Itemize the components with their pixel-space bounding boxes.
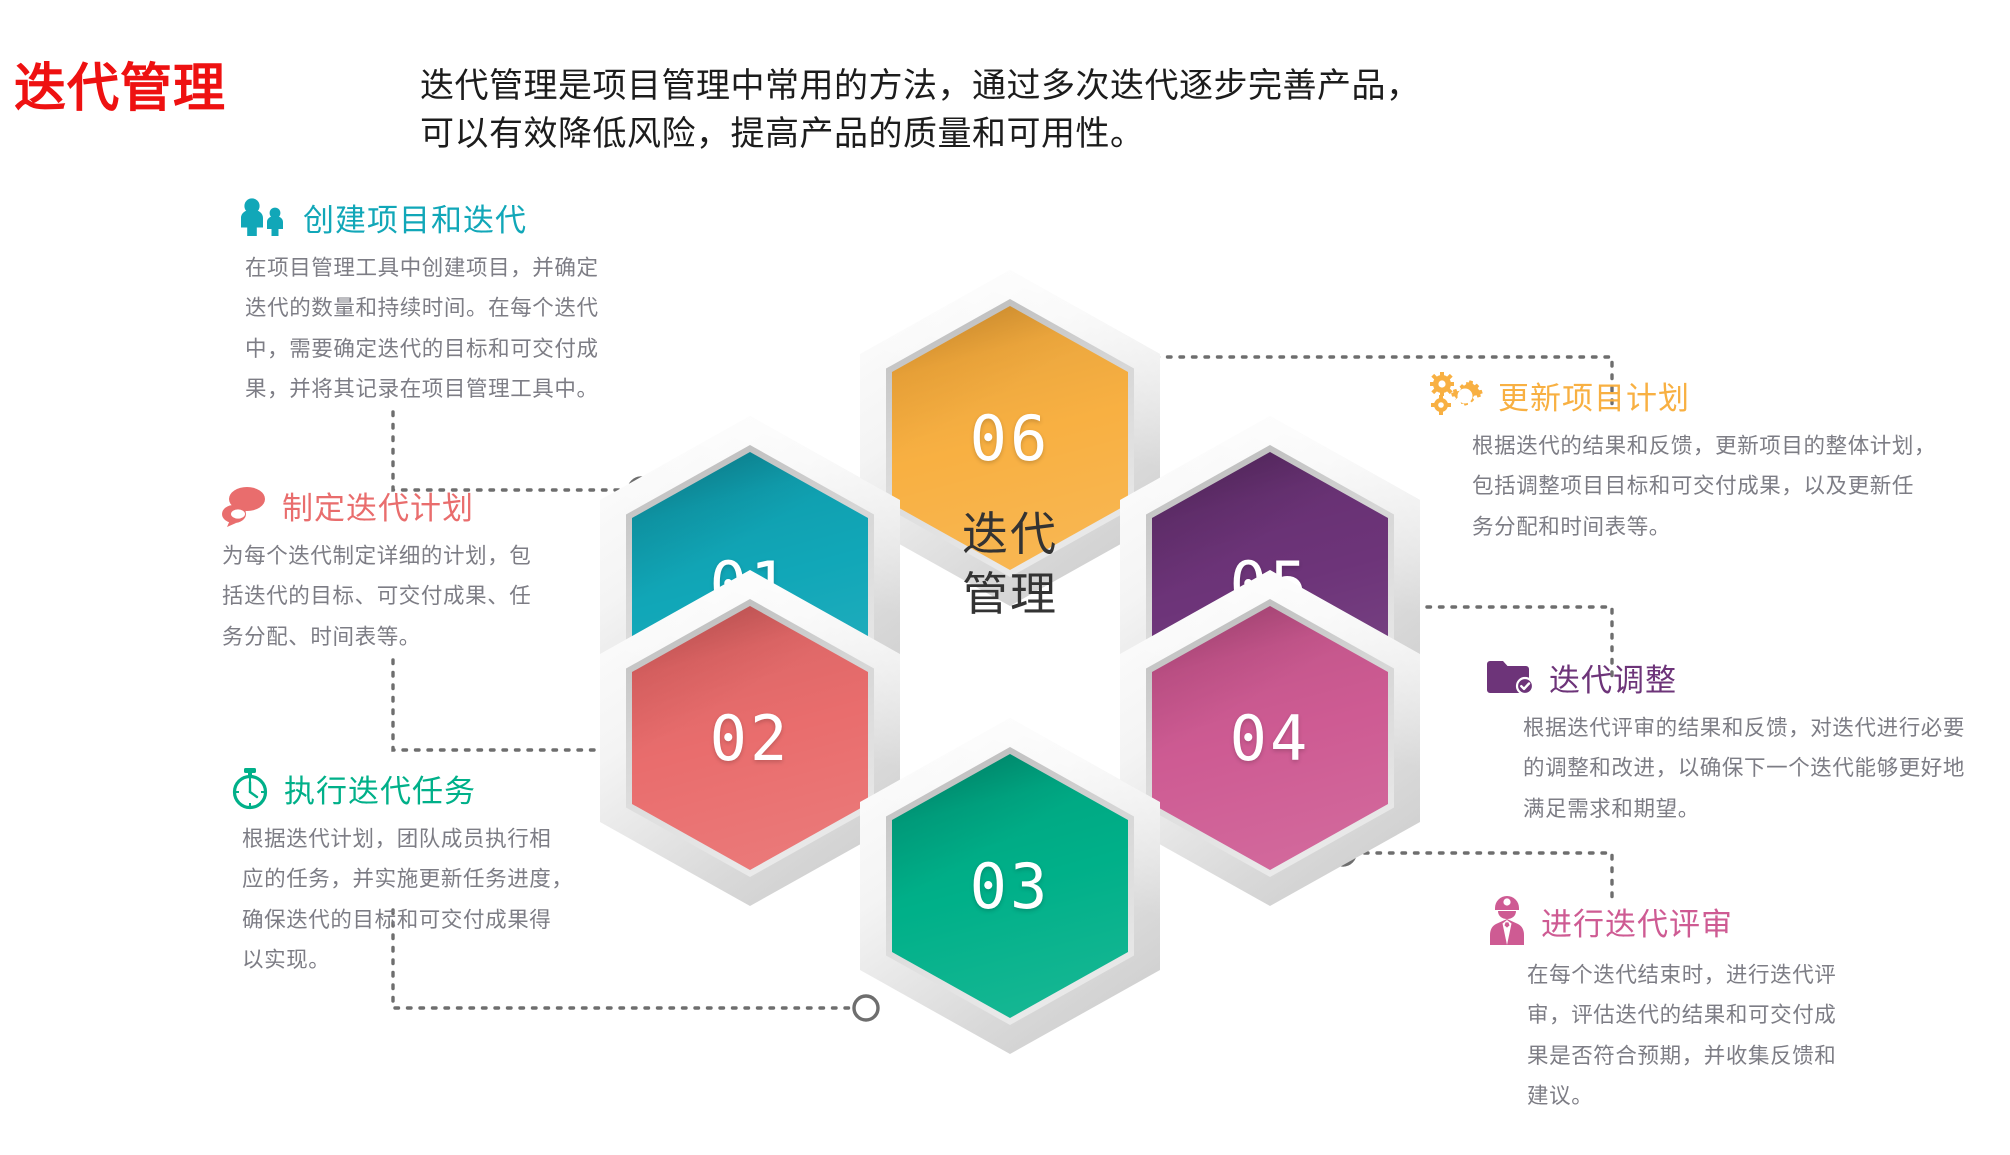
folder-check-icon [1485,657,1537,699]
hexagon-03[interactable]: 03 [860,718,1160,1054]
hexagon-number: 02 [710,702,791,775]
info-title: 创建项目和迭代 [303,195,527,240]
info-head: 更新项目计划 [1430,372,1990,418]
info-body: 根据迭代评审的结果和反馈，对迭代进行必要 的调整和改进，以确保下一个迭代能够更好… [1485,708,2010,829]
info-title: 执行迭代任务 [284,766,476,811]
connector-path-1 [393,412,630,490]
page-title: 迭代管理 [14,46,226,121]
hexagon-04[interactable]: 04 [1120,570,1420,906]
page-subtitle: 迭代管理是项目管理中常用的方法，通过多次迭代逐步完善产品， 可以有效降低风险，提… [420,62,1421,159]
info-title: 迭代调整 [1549,655,1677,700]
info-block-iteration-review: 进行迭代评审 在每个迭代结束时，进行迭代评 审，评估迭代的结果和可交付成 果是否… [1485,895,2010,1117]
info-head: 创建项目和迭代 [235,195,675,240]
hexagon-cluster: 06 01 05 02 [600,270,1420,910]
info-body: 根据迭代的结果和反馈，更新项目的整体计划， 包括调整项目目标和可交付成果，以及更… [1430,426,1990,547]
info-body: 根据迭代计划，团队成员执行相 应的任务，并实施更新任务进度， 确保迭代的目标和可… [228,819,668,981]
hexagon-number: 06 [970,402,1051,475]
hexagon-number: 03 [970,850,1051,923]
info-title: 进行迭代评审 [1541,899,1733,944]
info-head: 执行迭代任务 [228,765,668,811]
info-head: 制定迭代计划 [220,483,660,528]
people-icon [235,198,291,238]
info-block-iteration-adjustment: 迭代调整 根据迭代评审的结果和反馈，对迭代进行必要 的调整和改进，以确保下一个迭… [1485,655,2010,829]
infographic-slide: 迭代管理 迭代管理是项目管理中常用的方法，通过多次迭代逐步完善产品， 可以有效降… [0,0,2010,1155]
info-title: 更新项目计划 [1498,373,1690,418]
person-tie-icon [1485,895,1529,947]
info-block-create-project-and-iteration: 创建项目和迭代 在项目管理工具中创建项目，并确定 迭代的数量和持续时间。在每个迭… [235,195,675,410]
info-body: 在每个迭代结束时，进行迭代评 审，评估迭代的结果和可交付成 果是否符合预期，并收… [1485,955,2010,1117]
info-body: 为每个迭代制定详细的计划，包 括迭代的目标、可交付成果、任 务分配、时间表等。 [220,536,660,657]
info-block-make-iteration-plan: 制定迭代计划 为每个迭代制定详细的计划，包 括迭代的目标、可交付成果、任 务分配… [220,483,660,657]
info-body: 在项目管理工具中创建项目，并确定 迭代的数量和持续时间。在每个迭代 中，需要确定… [235,248,675,410]
info-block-update-project-plan: 更新项目计划 根据迭代的结果和反馈，更新项目的整体计划， 包括调整项目目标和可交… [1430,372,1990,547]
stopwatch-icon [228,765,272,811]
gears-icon [1430,372,1486,418]
info-title: 制定迭代计划 [282,483,474,528]
info-block-execute-iteration-tasks: 执行迭代任务 根据迭代计划，团队成员执行相 应的任务，并实施更新任务进度， 确保… [228,765,668,981]
speech-bubble-icon [220,485,270,527]
connector-path-2 [393,660,630,750]
info-head: 迭代调整 [1485,655,2010,700]
center-label: 迭代 管理 [860,505,1160,625]
info-head: 进行迭代评审 [1485,895,2010,947]
hexagon-number: 04 [1230,702,1311,775]
